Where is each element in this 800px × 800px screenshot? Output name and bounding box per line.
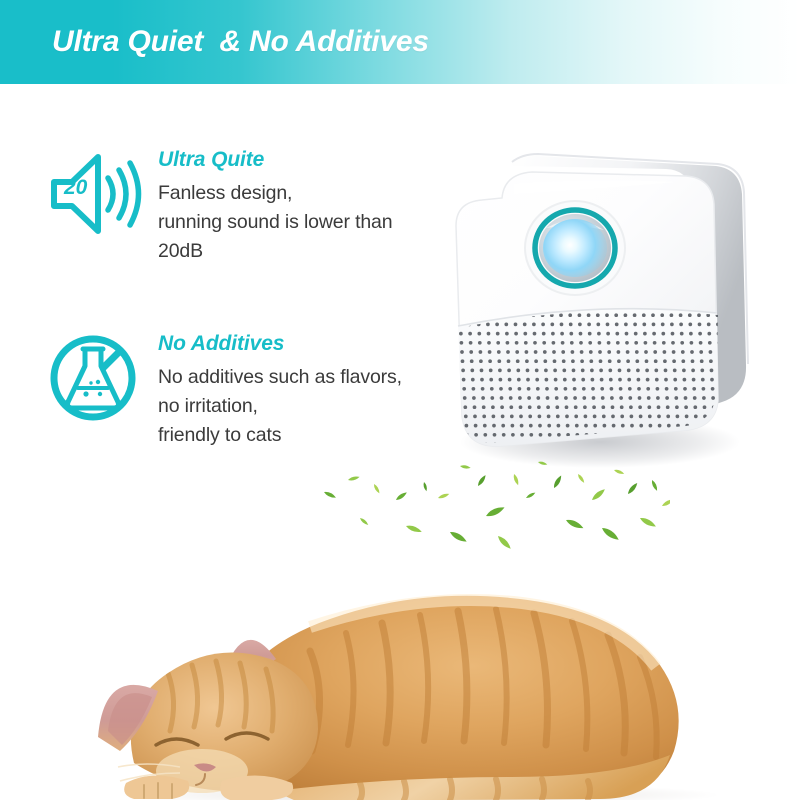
feature-text-ultra-quiet: Ultra Quite Fanless design, running soun… bbox=[158, 146, 392, 266]
feature-body: No additives such as flavors, no irritat… bbox=[158, 363, 402, 450]
page-title: Ultra Quiet & No Additives bbox=[52, 25, 429, 59]
speaker-db-badge: 20 bbox=[64, 177, 87, 198]
feature-heading: No Additives bbox=[158, 332, 402, 356]
no-additives-flask-prohibited-icon bbox=[48, 330, 144, 426]
header-banner: Ultra Quiet & No Additives bbox=[0, 0, 800, 84]
feature-block-ultra-quiet: 20 Ultra Quite Fanless design, running s… bbox=[48, 146, 392, 266]
feature-text-no-additives: No Additives No additives such as flavor… bbox=[158, 330, 402, 450]
sleeping-orange-tabby-cat-photo bbox=[60, 555, 760, 800]
air-purifier-device bbox=[440, 150, 770, 470]
product-feature-infographic: Ultra Quiet & No Additives 20 Ultra Quit… bbox=[0, 0, 800, 800]
green-leaves-decoration bbox=[310, 440, 670, 570]
feature-body: Fanless design, running sound is lower t… bbox=[158, 179, 392, 266]
speaker-sound-waves-icon: 20 bbox=[48, 146, 144, 242]
feature-block-no-additives: No Additives No additives such as flavor… bbox=[48, 330, 402, 450]
feature-heading: Ultra Quite bbox=[158, 148, 392, 172]
